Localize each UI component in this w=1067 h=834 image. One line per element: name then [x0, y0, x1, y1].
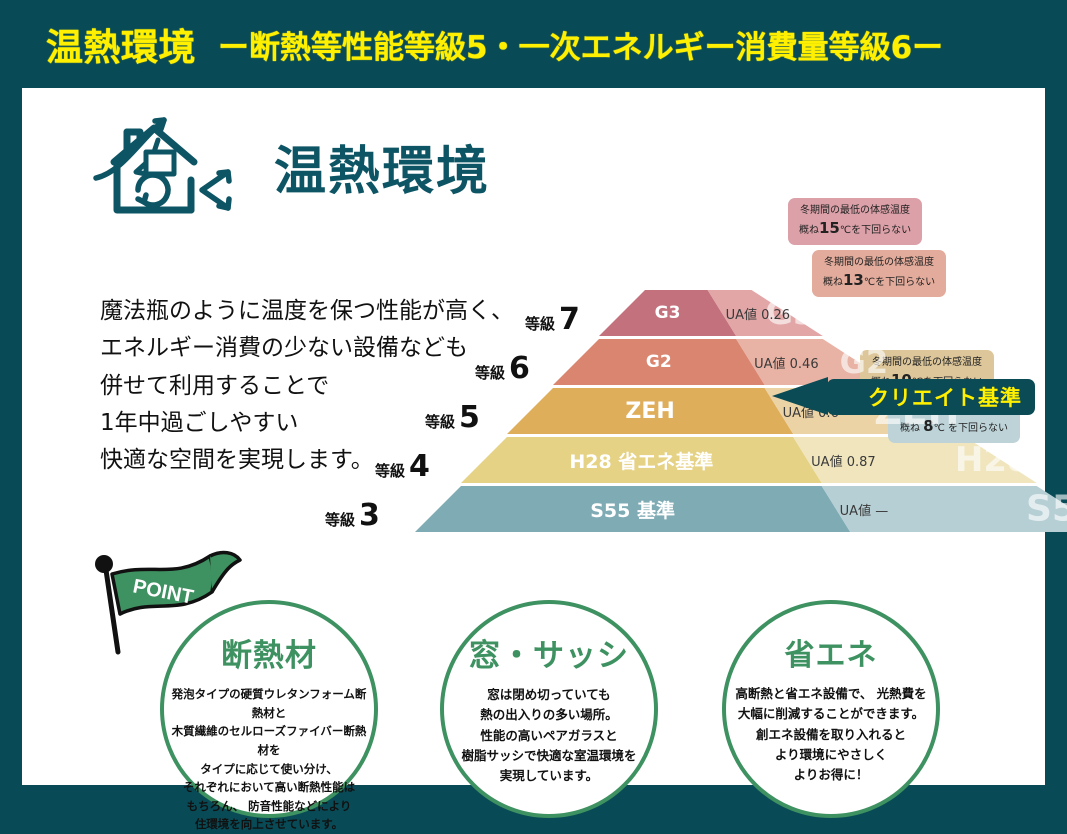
pyramid-tier: S55UA値 —S55 基準	[415, 486, 1067, 532]
create-standard-badge: クリエイト基準	[827, 379, 1035, 415]
grade-word: 等級	[525, 313, 555, 334]
callout-line-1: 冬期間の最低の体感温度	[799, 204, 911, 218]
page-title: 温熱環境	[46, 17, 196, 71]
pyramid-tier-ghost-label: G2	[840, 343, 889, 381]
feature-circle-energy-saving: 省エネ 高断熱と省エネ設備で、 光熱費を 大幅に削減することができます。 創エネ…	[722, 600, 940, 818]
pyramid-grade-label: 等級6	[475, 351, 530, 386]
callout-line-2: 概ね13℃を下回らない	[823, 270, 935, 290]
brand-logo-text: 温熱環境	[274, 129, 490, 204]
pyramid-tier-name: G3	[599, 290, 736, 336]
create-standard-label: クリエイト基準	[868, 382, 1022, 412]
temperature-callout: 冬期間の最低の体感温度概ね15℃を下回らない	[788, 198, 922, 245]
pyramid-tier-ghost-label: S55	[1026, 489, 1067, 530]
pyramid-grade-label: 等級5	[425, 400, 480, 435]
grade-word: 等級	[325, 509, 355, 530]
point-flag-icon: POINT	[82, 540, 252, 660]
feature-body: 高断熱と省エネ設備で、 光熱費を 大幅に削減することができます。 創エネ設備を取…	[729, 684, 932, 785]
house-thermal-icon	[92, 106, 252, 226]
feature-title: 省エネ	[785, 630, 878, 674]
callout-line-2: 概ね15℃を下回らない	[799, 218, 911, 238]
pyramid-tier: G3UA値 0.26G3	[599, 290, 823, 336]
grade-number: 3	[359, 498, 380, 533]
page-subtitle: ー断熱等性能等級5・一次エネルギー消費量等級6ー	[218, 22, 943, 67]
pyramid-tier: H28UA値 0.87H28 省エネ基準	[461, 437, 1037, 483]
pyramid-grade-label: 等級7	[525, 302, 580, 337]
pyramid-grade-label: 等級4	[375, 449, 430, 484]
pyramid-grade-label: 等級3	[325, 498, 380, 533]
feature-title: 窓・サッシ	[469, 630, 629, 675]
page-header: 温熱環境 ー断熱等性能等級5・一次エネルギー消費量等級6ー	[0, 0, 1067, 88]
pyramid-tier-name: ZEH	[507, 388, 793, 434]
pyramid-tier-name: G2	[553, 339, 765, 385]
temperature-callout: 冬期間の最低の体感温度概ね13℃を下回らない	[812, 250, 946, 297]
grade-number: 5	[459, 400, 480, 435]
feature-circle-windows: 窓・サッシ 窓は閉め切っていても 熱の出入りの多い場所。 性能の高いペアガラスと…	[440, 600, 658, 818]
pyramid-tier-ghost-label: H28	[955, 440, 1031, 480]
grade-number: 7	[559, 302, 580, 337]
grade-number: 6	[509, 351, 530, 386]
content-card: 温熱環境 魔法瓶のように温度を保つ性能が高く、 エネルギー消費の少ない設備なども…	[22, 88, 1045, 785]
badge-arrow-icon	[772, 377, 828, 415]
grade-word: 等級	[375, 460, 405, 481]
grade-number: 4	[409, 449, 430, 484]
pyramid-tier-name: H28 省エネ基準	[461, 437, 822, 483]
callout-line-1: 冬期間の最低の体感温度	[823, 256, 935, 270]
feature-body: 窓は閉め切っていても 熱の出入りの多い場所。 性能の高いペアガラスと 樹脂サッシ…	[455, 685, 642, 786]
pyramid-tier-name: S55 基準	[415, 486, 850, 532]
brand-logo: 温熱環境	[92, 106, 490, 226]
grade-word: 等級	[425, 411, 455, 432]
feature-body: 発泡タイプの硬質ウレタンフォーム断熱材と 木質繊維のセルローズファイバー断熱材を…	[164, 685, 374, 834]
grade-word: 等級	[475, 362, 505, 383]
